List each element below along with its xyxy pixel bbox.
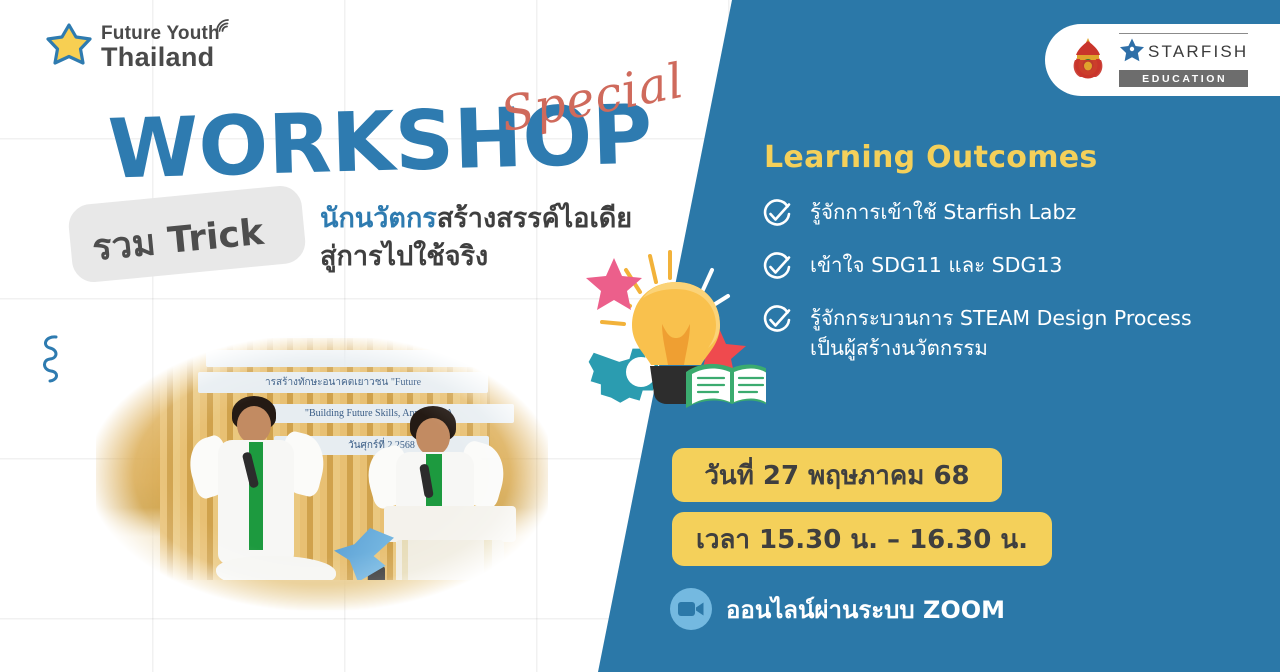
- starfish-name-row: STARFISH: [1119, 33, 1248, 67]
- open-book-icon: [686, 364, 766, 408]
- event-time-badge: เวลา 15.30 น. – 16.30 น.: [672, 512, 1052, 566]
- podium-legs: [396, 540, 504, 584]
- thai-garuda-emblem-icon: [1071, 35, 1105, 86]
- outcome-label: รู้จักกระบวนการ STEAM Design Process เป็…: [810, 304, 1192, 363]
- photo-canvas: ารสร้างทักษะอนาคตเยาวชน "Future "Buildin…: [96, 328, 548, 618]
- workshop-promo-banner: Future Youth Thailand: [0, 0, 1280, 672]
- event-platform-row: ออนไลน์ผ่านระบบ ZOOM: [670, 588, 1005, 630]
- check-circle-icon: [762, 199, 792, 234]
- subheading-rest: สร้างสรรค์ไอเดีย: [437, 203, 632, 234]
- starfish-subtitle: EDUCATION: [1119, 70, 1248, 87]
- starfish-star-icon: [1119, 37, 1145, 67]
- stage-banner-top: [206, 350, 486, 367]
- outcome-label: รู้จักการเข้าใช้ Starfish Labz: [810, 198, 1076, 228]
- check-circle-icon: [762, 305, 792, 340]
- future-youth-thailand-logo: Future Youth Thailand: [46, 22, 220, 73]
- learning-outcomes-title: Learning Outcomes: [764, 140, 1098, 175]
- idea-illustration: [566, 248, 766, 428]
- stage-banner-line-1: ารสร้างทักษะอนาคตเยาวชน "Future: [198, 372, 488, 393]
- logo-wordmark: Future Youth Thailand: [101, 24, 220, 71]
- subheading-line-1: นักนวัตกรสร้างสรรค์ไอเดีย: [320, 200, 632, 238]
- logo-line-2: Thailand: [101, 44, 220, 71]
- face: [416, 418, 450, 456]
- check-circle-icon: [762, 252, 792, 287]
- event-date-badge: วันที่ 27 พฤษภาคม 68: [672, 448, 1002, 502]
- student-left: [206, 394, 316, 574]
- squiggle-decoration-icon: [38, 332, 72, 393]
- face: [237, 406, 271, 444]
- podium-table: [384, 506, 516, 542]
- logo-line-1: Future Youth: [101, 24, 220, 43]
- starfish-education-logo: STARFISH EDUCATION: [1119, 33, 1248, 87]
- outcome-item: รู้จักการเข้าใช้ Starfish Labz: [762, 198, 1262, 234]
- event-photo: ารสร้างทักษะอนาคตเยาวชน "Future "Buildin…: [96, 328, 548, 618]
- starfish-name: STARFISH: [1148, 42, 1248, 62]
- outcome-label: เข้าใจ SDG11 และ SDG13: [810, 251, 1062, 281]
- subheading-accent: นักนวัตกร: [320, 203, 437, 234]
- learning-outcomes-list: รู้จักการเข้าใช้ Starfish Labz เข้าใจ SD…: [762, 198, 1262, 380]
- outcome-item: เข้าใจ SDG11 และ SDG13: [762, 251, 1262, 287]
- partner-logo-panel: STARFISH EDUCATION: [1045, 24, 1280, 96]
- star-icon-pink: [586, 258, 642, 310]
- outcome-item: รู้จักกระบวนการ STEAM Design Process เป็…: [762, 304, 1262, 363]
- star-icon: [46, 22, 92, 73]
- event-platform-label: ออนไลน์ผ่านระบบ ZOOM: [726, 590, 1005, 629]
- stage-front-panel: [148, 580, 498, 610]
- video-camera-icon: [670, 588, 712, 630]
- wifi-signal-icon: [215, 18, 233, 38]
